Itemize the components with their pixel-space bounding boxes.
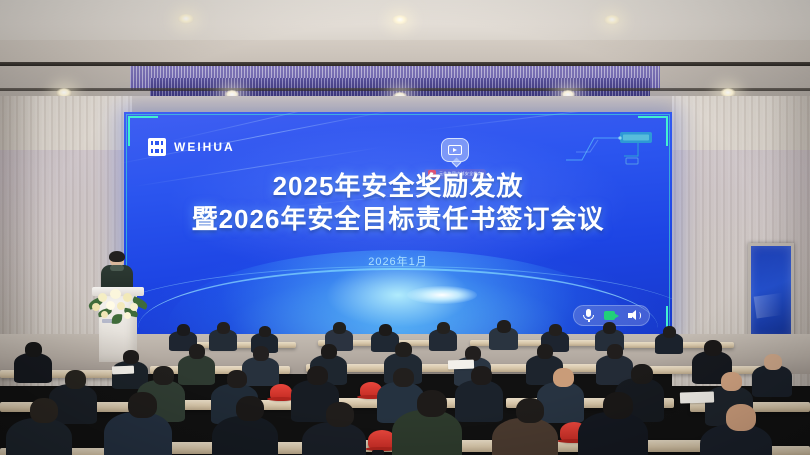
- secondary-wall-display: [748, 243, 794, 341]
- document-on-desk: [448, 360, 474, 370]
- camera-icon[interactable]: [604, 309, 619, 322]
- slide-surface: WEIHUA 元件集团内部安全教育 2025年安全奖励发放 暨2026年安全目标…: [124, 112, 672, 340]
- slide-arc-hotspot: [407, 286, 477, 304]
- document-on-desk: [680, 391, 714, 403]
- ceiling-beam: [0, 62, 810, 66]
- slide-title-block: 2025年安全奖励发放 暨2026年安全目标责任书签订会议 2026年1月: [124, 170, 672, 269]
- ceiling-beam: [0, 88, 810, 91]
- ceiling-downlight: [604, 15, 620, 25]
- document-on-desk: [112, 366, 134, 375]
- brand-lockup: WEIHUA: [148, 138, 235, 156]
- led-presentation-screen: WEIHUA 元件集团内部安全教育 2025年安全奖励发放 暨2026年安全目标…: [124, 112, 672, 340]
- phone-on-desk: [372, 450, 384, 455]
- seated-audience: [0, 330, 810, 455]
- speaker-icon[interactable]: [627, 309, 642, 322]
- brand-name: WEIHUA: [174, 140, 235, 154]
- conference-hall-photo: WEIHUA 元件集团内部安全教育 2025年安全奖励发放 暨2026年安全目标…: [0, 0, 810, 455]
- slide-date: 2026年1月: [124, 253, 672, 269]
- slide-title-line-1: 2025年安全奖励发放: [124, 170, 672, 203]
- slide-tech-graphic-icon: [560, 130, 656, 174]
- slide-title-line-2: 暨2026年安全目标责任书签订会议: [124, 203, 672, 236]
- ceiling-downlight: [178, 14, 194, 24]
- weihua-square-logo-icon: [148, 138, 166, 156]
- microphone-icon[interactable]: [581, 309, 596, 322]
- screen-share-icon: [441, 138, 469, 162]
- safety-helmet: [270, 384, 292, 400]
- flower-arrangement: [86, 281, 152, 325]
- slide-light-streak: [424, 112, 662, 131]
- slide-arc-outer: [124, 266, 672, 340]
- ceiling-downlight: [392, 15, 408, 25]
